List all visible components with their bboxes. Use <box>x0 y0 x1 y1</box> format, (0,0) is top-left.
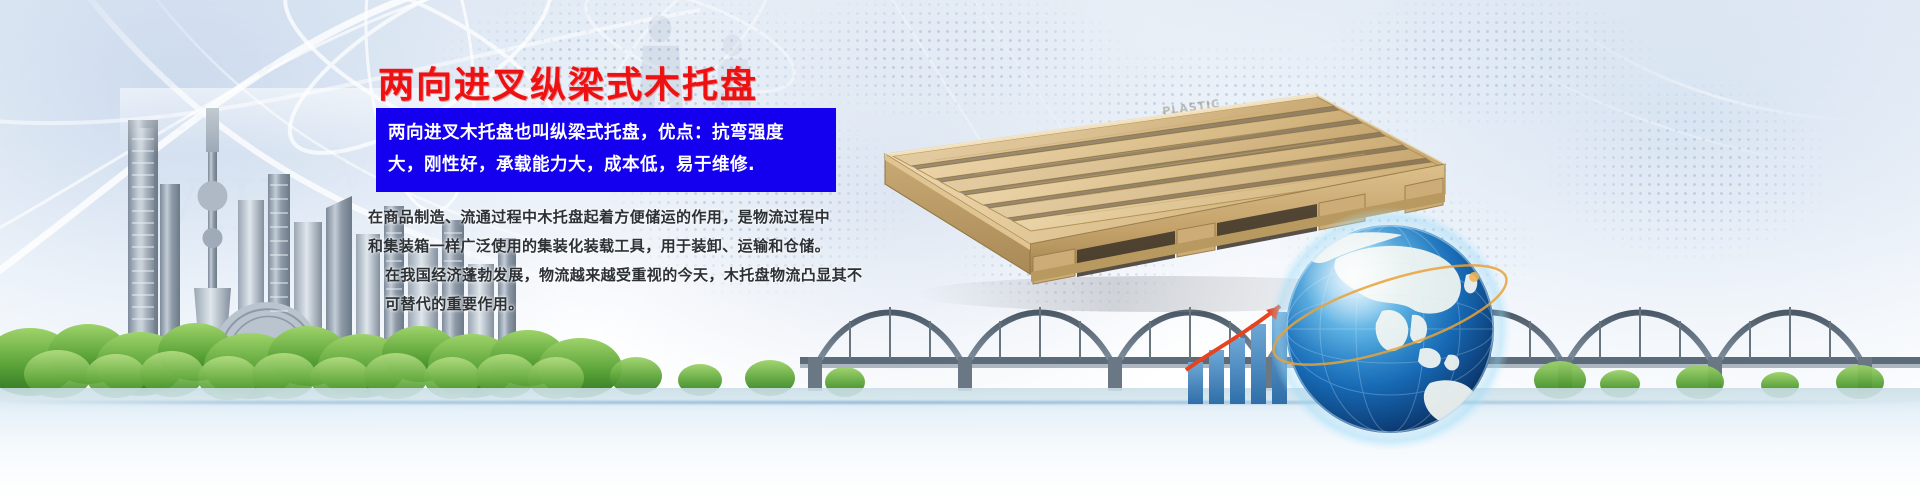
description-line-1: 在商品制造、流通过程中木托盘起着方便储运的作用，是物流过程中 <box>368 203 860 232</box>
description-line-4: 可替代的重要作用。 <box>368 290 860 319</box>
product-banner: XI X VIII VII VI <box>0 0 1920 500</box>
horizon-line <box>0 401 1920 404</box>
description-paragraph: 在商品制造、流通过程中木托盘起着方便储运的作用，是物流过程中 和集装箱一样广泛使… <box>368 203 860 319</box>
text-column: 两向进叉纵梁式木托盘 两向进叉木托盘也叫纵梁式托盘，优点：抗弯强度 大，刚性好，… <box>360 48 860 348</box>
earth-globe <box>1262 205 1522 465</box>
highlight-line-1: 两向进叉木托盘也叫纵梁式托盘，优点：抗弯强度 <box>388 117 824 149</box>
description-line-2: 和集装箱一样广泛使用的集装化装载工具，用于装卸、运输和仓储。 <box>368 232 860 261</box>
page-title: 两向进叉纵梁式木托盘 <box>378 56 758 108</box>
water-reflection <box>0 388 1920 500</box>
highlight-line-2: 大，刚性好，承载能力大，成本低，易于维修. <box>388 149 824 181</box>
description-line-3: 在我国经济蓬勃发展，物流越来越受重视的今天，木托盘物流凸显其不 <box>368 261 860 290</box>
highlight-box: 两向进叉木托盘也叫纵梁式托盘，优点：抗弯强度 大，刚性好，承载能力大，成本低，易… <box>376 108 836 192</box>
